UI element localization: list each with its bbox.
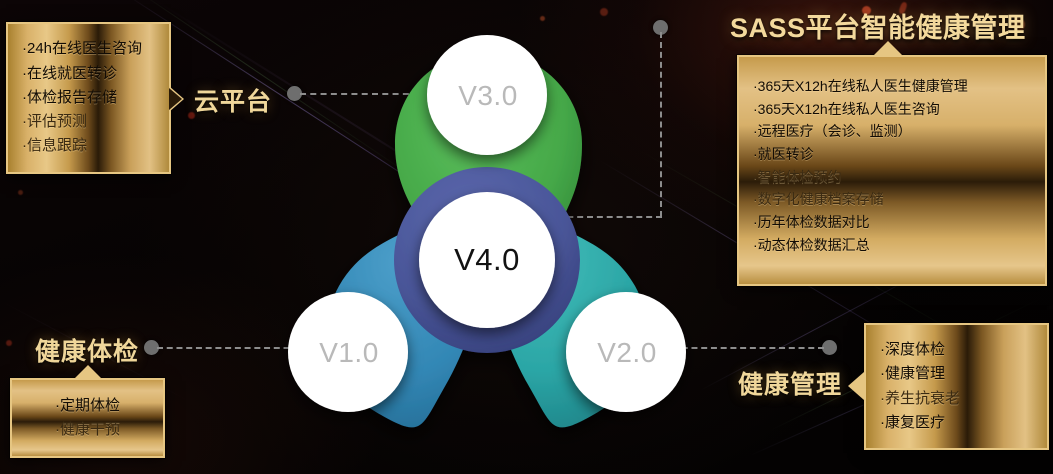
list-item: ·智能体检预约 xyxy=(753,166,1031,189)
list-item: ·体检报告存储 xyxy=(22,86,155,110)
panel-sass-pointer xyxy=(874,41,902,55)
panel-health-checkup-pointer xyxy=(74,365,102,379)
list-item: ·养生抗衰老 xyxy=(880,387,1033,411)
list-item: ·就医转诊 xyxy=(753,143,1031,166)
list-item: ·信息跟踪 xyxy=(22,134,155,158)
list-item: ·健康干预 xyxy=(26,418,149,442)
hole-v2 xyxy=(566,292,686,412)
panel-health-management: ·深度体检 ·健康管理 ·养生抗衰老 ·康复医疗 xyxy=(864,323,1049,450)
heading-cloud-platform: 云平台 xyxy=(194,82,272,118)
panel-health-management-list: ·深度体检 ·健康管理 ·养生抗衰老 ·康复医疗 xyxy=(866,325,1047,448)
list-item: ·动态体检数据汇总 xyxy=(753,234,1031,257)
list-item: ·历年体检数据对比 xyxy=(753,211,1031,234)
list-item: ·数字化健康档案存储 xyxy=(753,188,1031,211)
hole-v4 xyxy=(419,192,555,328)
panel-cloud-platform-list: ·24h在线医生咨询 ·在线就医转诊 ·体检报告存储 ·评估预测 ·信息跟踪 xyxy=(8,24,169,172)
panel-health-checkup-list: ·定期体检 ·健康干预 xyxy=(12,380,163,456)
panel-cloud-platform: ·24h在线医生咨询 ·在线就医转诊 ·体检报告存储 ·评估预测 ·信息跟踪 xyxy=(6,22,171,174)
title-sass: SASS平台智能健康管理 xyxy=(730,6,1026,45)
slide-canvas: V3.0 V1.0 V2.0 V4.0 ·24h在线医生咨询 ·在线就医转诊 ·… xyxy=(0,0,1053,474)
spark-7 xyxy=(6,340,12,346)
list-item: ·定期体检 xyxy=(26,394,149,418)
list-item: ·远程医疗（会诊、监测） xyxy=(753,120,1031,143)
panel-sass-list: ·365天X12h在线私人医生健康管理 ·365天X12h在线私人医生咨询 ·远… xyxy=(739,57,1045,284)
connector-dot-health-management xyxy=(822,340,837,355)
panel-health-management-pointer xyxy=(848,372,864,400)
list-item: ·在线就医转诊 xyxy=(22,62,155,86)
list-item: ·365天X12h在线私人医生咨询 xyxy=(753,98,1031,121)
panel-cloud-platform-pointer-inner xyxy=(169,88,182,110)
heading-health-management: 健康管理 xyxy=(738,365,842,401)
hole-v3 xyxy=(427,35,547,155)
panel-sass: ·365天X12h在线私人医生健康管理 ·365天X12h在线私人医生咨询 ·远… xyxy=(737,55,1047,286)
list-item: ·深度体检 xyxy=(880,338,1033,362)
spark-8 xyxy=(18,190,23,195)
list-item: ·康复医疗 xyxy=(880,411,1033,435)
list-item: ·评估预测 xyxy=(22,110,155,134)
version-spinner-diagram: V3.0 V1.0 V2.0 V4.0 xyxy=(252,2,722,472)
list-item: ·24h在线医生咨询 xyxy=(22,37,155,61)
panel-health-checkup: ·定期体检 ·健康干预 xyxy=(10,378,165,458)
hole-v1 xyxy=(288,292,408,412)
list-item: ·健康管理 xyxy=(880,362,1033,386)
list-item: ·365天X12h在线私人医生健康管理 xyxy=(753,75,1031,98)
heading-health-checkup: 健康体检 xyxy=(35,332,139,368)
